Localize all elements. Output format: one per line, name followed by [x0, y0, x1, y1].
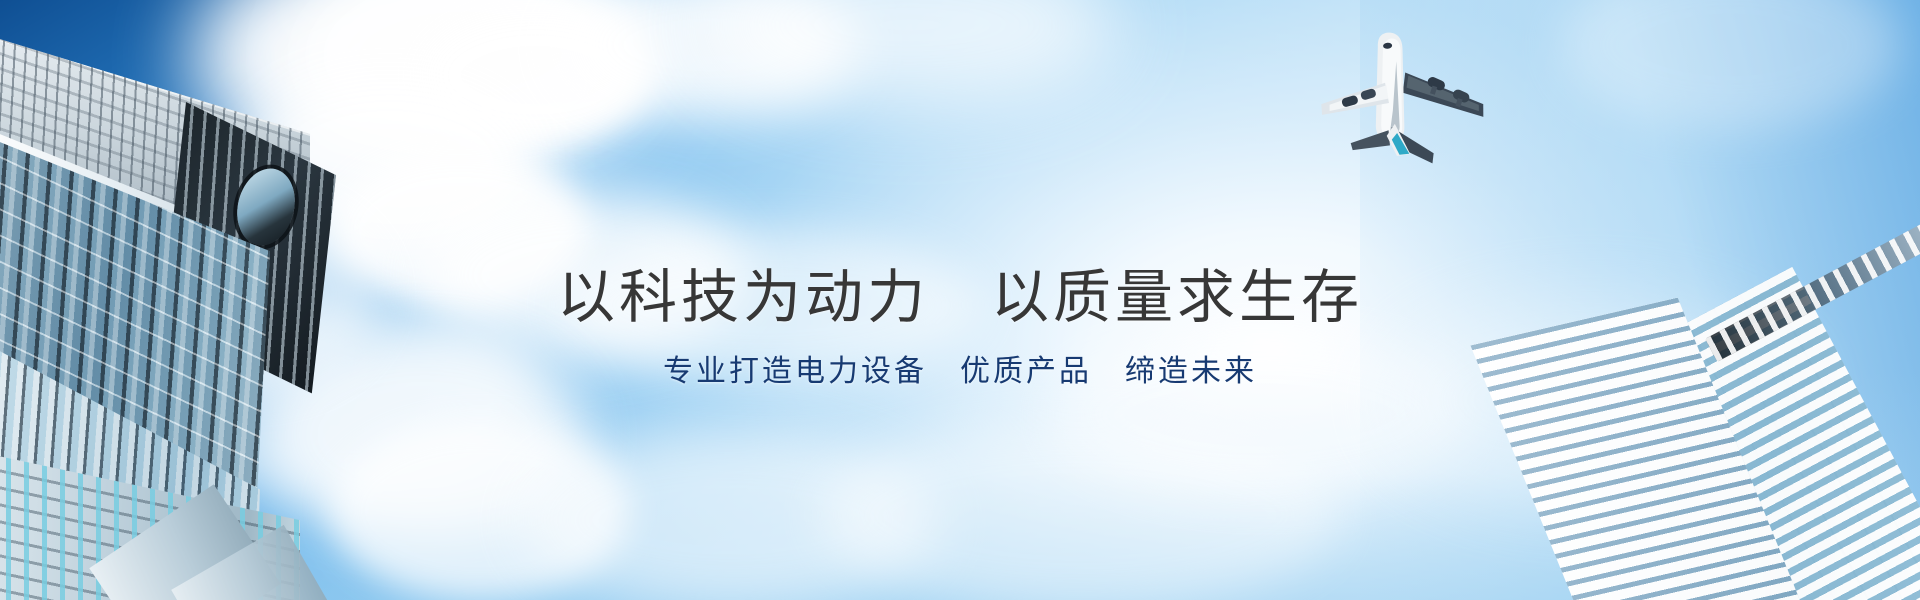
airplane	[1310, 20, 1490, 170]
headline-text: 以科技为动力 以质量求生存	[0, 250, 1920, 334]
subtitle-text: 专业打造电力设备 优质产品 缔造未来	[0, 346, 1920, 390]
airplane-icon	[1310, 20, 1490, 170]
hero-banner: 以科技为动力 以质量求生存 专业打造电力设备 优质产品 缔造未来	[0, 0, 1920, 600]
